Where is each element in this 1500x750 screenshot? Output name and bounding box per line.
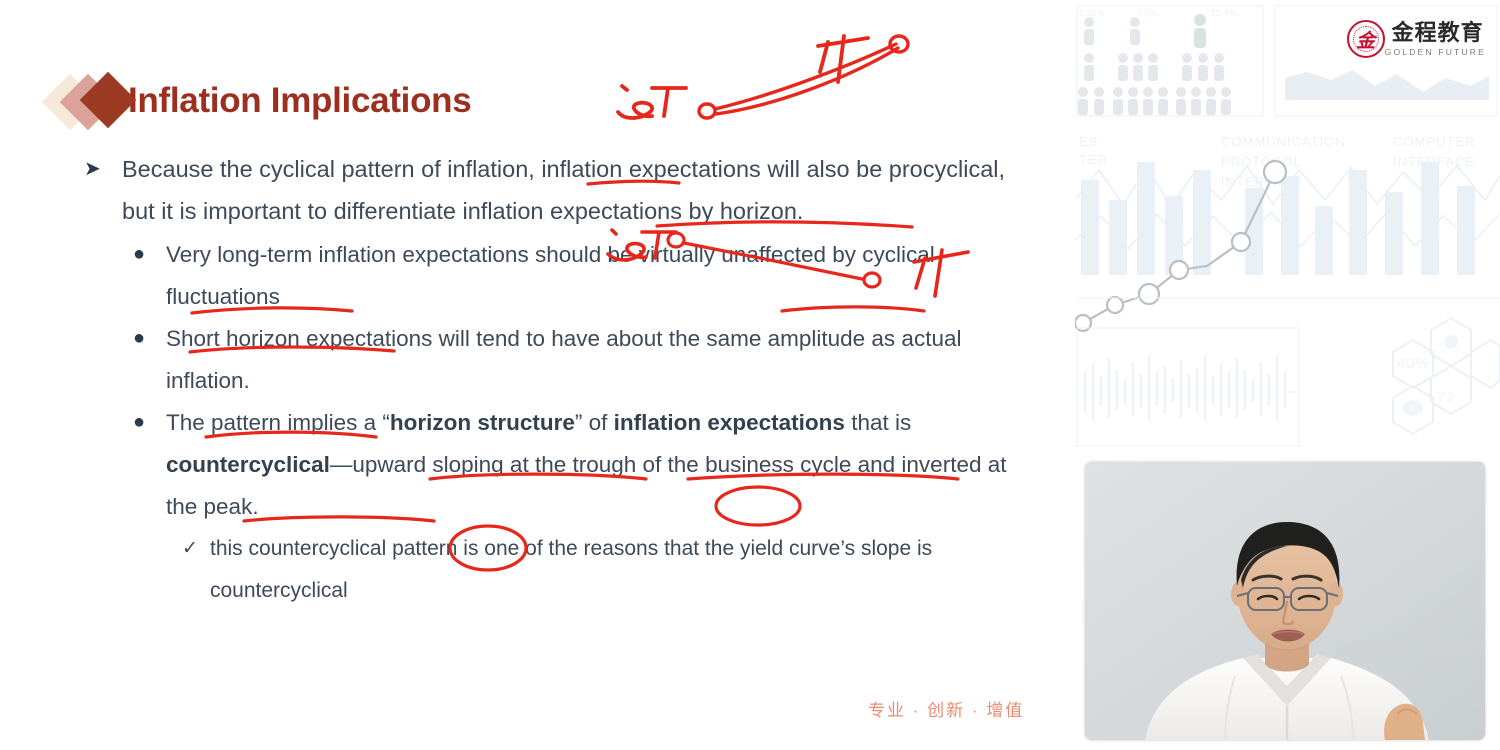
ink-curve-lower — [716, 48, 898, 114]
infographic-background: 1.25%7.5%11.4% — [1075, 0, 1500, 455]
dot-bullet-icon: ● — [133, 317, 145, 359]
bullet-text-4: The pattern implies a “horizon structure… — [166, 410, 1007, 519]
emphasis-horizon-structure: horizon structure — [390, 410, 575, 435]
emphasis-countercyclical: countercyclical — [166, 452, 330, 477]
ink-label-lt-top — [818, 36, 868, 82]
emphasis-inflation-expectations: inflation expectations — [614, 410, 845, 435]
text-fragment: The pattern implies a “ — [166, 410, 390, 435]
arrow-bullet-icon: ➤ — [84, 148, 101, 190]
video-frame — [1085, 462, 1485, 740]
dot-bullet-icon: ● — [133, 401, 145, 443]
bullet-item-4: ● The pattern implies a “horizon structu… — [78, 402, 1038, 528]
brand-logo: 金 金程教育 GOLDEN FUTURE — [1347, 20, 1486, 58]
svg-text:40%: 40% — [1397, 355, 1430, 372]
svg-text:PROTOCOL: PROTOCOL — [1221, 154, 1302, 169]
svg-text:INTERFACE: INTERFACE — [1221, 174, 1303, 189]
ink-label-st-top-t — [652, 88, 686, 116]
dot-bullet-icon: ● — [133, 233, 145, 275]
text-fragment: that is — [845, 410, 911, 435]
svg-text:INTERFACE: INTERFACE — [1393, 154, 1475, 169]
page-title: Inflation Implications — [128, 78, 471, 124]
instructor-video-feed[interactable] — [1085, 462, 1485, 740]
svg-text:11.4%: 11.4% — [1211, 8, 1236, 18]
svg-text:7.5%: 7.5% — [1137, 8, 1158, 18]
text-fragment: ” of — [575, 410, 614, 435]
ink-curve-upper — [715, 44, 896, 109]
bullet-text-5: this countercyclical pattern is one of t… — [210, 537, 932, 602]
right-panel: 1.25%7.5%11.4% — [1075, 0, 1500, 750]
svg-text:72: 72 — [1437, 389, 1456, 406]
bullet-text-1: Because the cyclical pattern of inflatio… — [122, 156, 1005, 224]
bullet-item-5: ✓ this countercyclical pattern is one of… — [78, 528, 1038, 612]
brand-slogan: 专业 · 创新 · 增值 — [868, 696, 1024, 721]
slide-title-block: Inflation Implications — [50, 78, 471, 124]
slide-canvas: Inflation Implications ➤ Because the cyc… — [0, 0, 1075, 750]
seal-glyph: 金 — [1356, 26, 1375, 53]
svg-text:TER: TER — [1079, 152, 1108, 167]
svg-text:1.25%: 1.25% — [1079, 8, 1105, 18]
bullet-item-2: ● Very long-term inflation expectations … — [78, 234, 1038, 318]
brand-name-cn: 金程教育 — [1392, 22, 1486, 44]
bullet-item-1: ➤ Because the cyclical pattern of inflat… — [78, 148, 1038, 232]
slide-body: ➤ Because the cyclical pattern of inflat… — [78, 148, 1038, 612]
svg-text:COMMUNICATION: COMMUNICATION — [1221, 134, 1346, 149]
brand-wordmark: 金程教育 GOLDEN FUTURE — [1385, 22, 1486, 57]
svg-text:ES: ES — [1079, 134, 1098, 149]
ink-circle-end-top — [890, 36, 908, 52]
ink-circle-start-top — [699, 104, 715, 118]
bullet-item-3: ● Short horizon expectations will tend t… — [78, 318, 1038, 402]
bullet-text-2: Very long-term inflation expectations sh… — [166, 242, 935, 309]
svg-text:COMPUTER: COMPUTER — [1393, 134, 1475, 149]
presentation-screen: Inflation Implications ➤ Because the cyc… — [0, 0, 1500, 750]
brand-name-en: GOLDEN FUTURE — [1385, 47, 1486, 57]
ink-label-st-top — [618, 86, 652, 118]
check-bullet-icon: ✓ — [182, 528, 198, 570]
seal-icon: 金 — [1347, 20, 1385, 58]
bullet-text-3: Short horizon expectations will tend to … — [166, 326, 961, 393]
